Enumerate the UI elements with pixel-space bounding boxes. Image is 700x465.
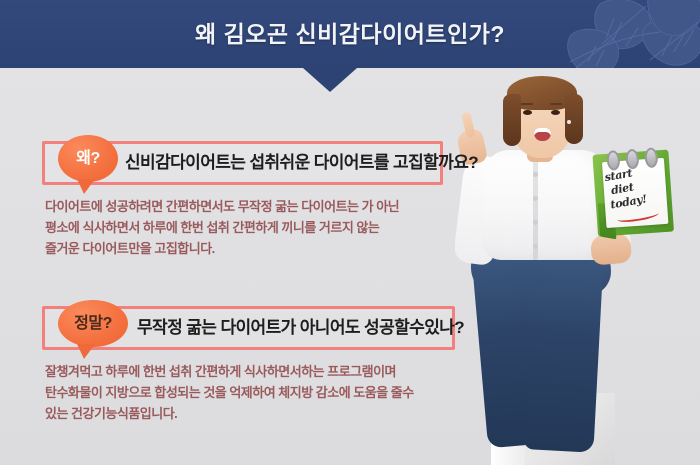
blouse-button [533,220,538,225]
question-box-1: 왜? 신비감다이어트는 섭취쉬운 다이어트를 고집할까요? [42,141,443,185]
answer-line: 다이어트에 성공하려면 간편하면서도 무작정 굶는 다이어트는 가 아닌 [45,196,475,217]
answer-text-2: 잘챙겨먹고 하루에 한번 섭취 간편하게 식사하면서하는 프로그램이며 탄수화물… [45,361,475,424]
answer-line: 잘챙겨먹고 하루에 한번 섭취 간편하게 식사하면서하는 프로그램이며 [45,361,475,382]
model-eye-right [551,110,560,115]
question-box-2: 정말? 무작정 굶는 다이어트가 아니어도 성공할수있나? [42,306,455,350]
question-text-1: 신비감다이어트는 섭취쉬운 다이어트를 고집할까요? [125,144,478,182]
answer-line: 있는 건강기능식품입니다. [45,403,475,424]
model-eye-left [523,110,532,115]
page-title: 왜 김오곤 신비감다이어트인가? [0,0,700,68]
qa-block-2: 정말? 무작정 굶는 다이어트가 아니어도 성공할수있나? 잘챙겨먹고 하루에 … [42,306,455,350]
model-eyebrow-right [550,103,562,105]
model-eyebrow-left [521,103,533,105]
blouse-button [533,172,538,177]
qa-block-1: 왜? 신비감다이어트는 섭취쉬운 다이어트를 고집할까요? 다이어트에 성공하려… [42,141,443,185]
answer-line: 탄수화물이 지방으로 합성되는 것을 억제하여 체지방 감소에 도움을 줄수 [45,382,475,403]
blouse-button [533,244,538,249]
answer-line: 평소에 식사하면서 하루에 한번 섭취 간편하게 끼니를 거르지 않는 [45,217,475,238]
model-earring [567,120,571,124]
page-header: 왜 김오곤 신비감다이어트인가? [0,0,700,68]
question-badge-1: 왜? [58,135,118,182]
answer-line: 즐거운 다이어트만을 고집합니다. [45,238,475,259]
model-leg-right [523,234,604,452]
question-badge-2: 정말? [58,300,128,347]
notepad: start diet today! [592,141,678,238]
model-photo: start diet today! [455,68,700,465]
model-hair-side-right [565,94,583,144]
model-hair-side-left [503,94,521,146]
answer-text-1: 다이어트에 성공하려면 간편하면서도 무작정 굶는 다이어트는 가 아닌 평소에… [45,196,475,259]
question-text-2: 무작정 굶는 다이어트가 아니어도 성공할수있나? [137,309,464,347]
header-notch-triangle [303,68,357,92]
blouse-button [533,196,538,201]
promo-page: 왜 김오곤 신비감다이어트인가? 왜? 신비감다이어트는 섭취쉬운 다이어트를 … [0,0,700,465]
